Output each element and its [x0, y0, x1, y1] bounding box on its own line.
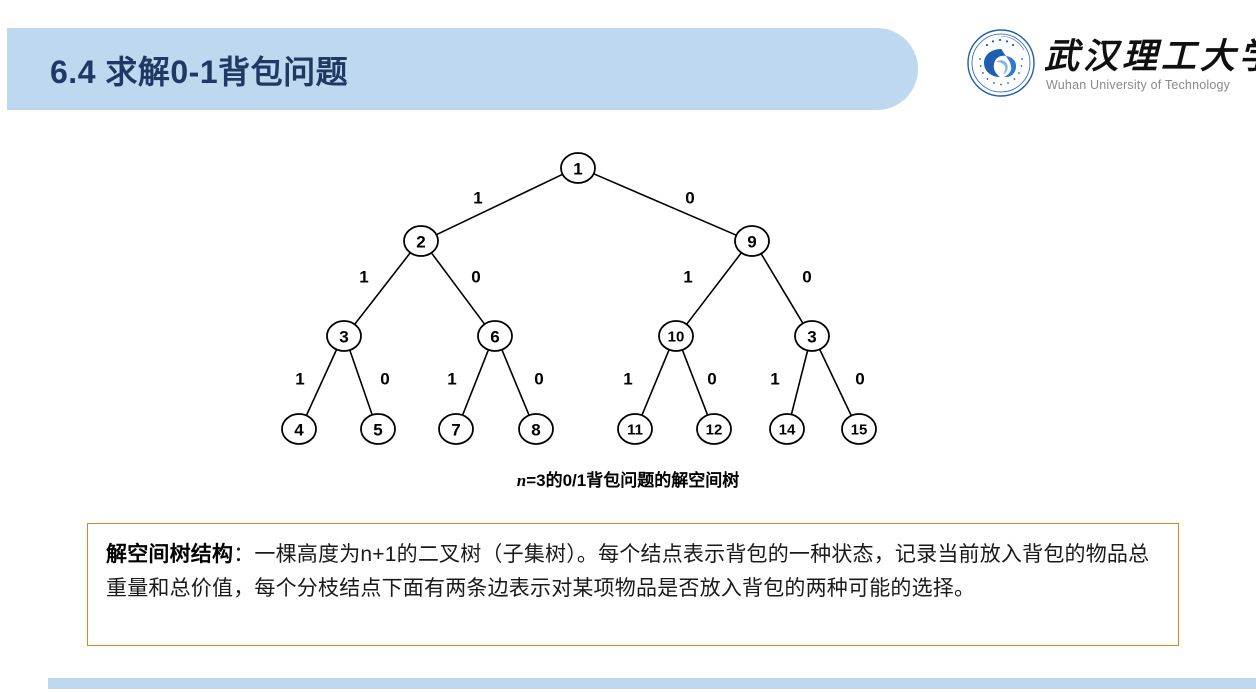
tree-node: 3: [795, 321, 829, 351]
tree-edge: [594, 174, 737, 235]
tree-node-label: 15: [851, 422, 868, 439]
tree-edge-label: 0: [380, 370, 389, 389]
tree-edge-label: 0: [534, 370, 543, 389]
university-emblem-icon: [966, 28, 1036, 98]
tree-edge: [436, 174, 562, 234]
tree-node-label: 7: [451, 421, 460, 440]
tree-edge-label: 0: [471, 268, 480, 287]
note-text: 解空间树结构：一棵高度为n+1的二叉树（子集树）。每个结点表示背包的一种状态，记…: [106, 538, 1162, 606]
tree-node-label: 1: [573, 160, 582, 179]
note-box: 解空间树结构：一棵高度为n+1的二叉树（子集树）。每个结点表示背包的一种状态，记…: [87, 523, 1179, 646]
tree-node: 1: [561, 153, 595, 183]
diagram-caption: n=3的0/1背包问题的解空间树: [0, 466, 1256, 491]
tree-edge: [463, 350, 489, 415]
tree-node: 5: [361, 414, 395, 444]
footer-bar: [48, 678, 1256, 689]
tree-node: 15: [842, 414, 876, 444]
tree-node: 3: [327, 321, 361, 351]
tree-edge-label: 1: [683, 268, 692, 287]
tree-edge: [350, 350, 372, 415]
tree-edge-label: 1: [770, 370, 779, 389]
tree-edge: [642, 350, 669, 416]
solution-space-tree-diagram: 10101010101010 12936103457811121415: [0, 130, 1256, 460]
tree-edge: [791, 351, 807, 415]
tree-node-label: 5: [373, 421, 382, 440]
tree-node: 10: [659, 321, 693, 351]
tree-node: 7: [439, 414, 473, 444]
caption-variable-n: n: [517, 471, 526, 490]
tree-edge-label: 1: [623, 370, 632, 389]
note-body-text: ：一棵高度为n+1的二叉树（子集树）。每个结点表示背包的一种状态，记录当前放入背…: [106, 543, 1149, 600]
tree-edge: [355, 253, 411, 325]
tree-node-label: 8: [531, 421, 540, 440]
tree-edge-label: 0: [707, 370, 716, 389]
tree-edge-label: 0: [802, 268, 811, 287]
tree-edge-label: 0: [855, 370, 864, 389]
tree-node-label: 3: [339, 328, 348, 347]
tree-edge: [682, 350, 707, 415]
tree-node-label: 2: [416, 233, 425, 252]
tree-edge-label: 1: [447, 370, 456, 389]
tree-node-label: 9: [747, 233, 756, 252]
tree-node: 8: [519, 414, 553, 444]
tree-node: 6: [478, 321, 512, 351]
tree-node: 9: [735, 226, 769, 256]
tree-node: 12: [697, 414, 731, 444]
tree-edge-labels: 10101010101010: [295, 189, 864, 389]
tree-node-label: 10: [668, 329, 685, 346]
tree-node-label: 6: [490, 328, 499, 347]
tree-node-label: 14: [779, 422, 796, 439]
tree-node: 14: [770, 414, 804, 444]
university-name-en: Wuhan University of Technology: [1046, 78, 1230, 92]
tree-edge: [761, 254, 803, 324]
tree-edge-label: 0: [685, 189, 694, 208]
tree-node-label: 3: [807, 328, 816, 347]
tree-node: 2: [404, 226, 438, 256]
tree-node: 4: [282, 414, 316, 444]
tree-edge-label: 1: [473, 189, 482, 208]
tree-edge-label: 1: [359, 268, 368, 287]
tree-edge: [687, 253, 742, 325]
caption-rest: =3的0/1背包问题的解空间树: [526, 471, 739, 490]
note-lead-label: 解空间树结构: [106, 543, 233, 566]
tree-nodes: 12936103457811121415: [282, 153, 876, 444]
tree-edge-label: 1: [295, 370, 304, 389]
tree-edge: [502, 350, 529, 416]
tree-node-label: 12: [706, 422, 723, 439]
page-title: 6.4 求解0-1背包问题: [50, 47, 348, 93]
university-logo: 武汉理工大学 Wuhan University of Technology: [966, 26, 1248, 104]
tree-node-label: 11: [627, 422, 643, 439]
tree-node-label: 4: [294, 421, 304, 440]
tree-edge: [306, 350, 336, 416]
university-name-cn: 武汉理工大学: [1044, 28, 1256, 79]
tree-edge: [431, 253, 484, 324]
tree-node: 11: [618, 414, 652, 444]
tree-edge: [820, 349, 852, 415]
